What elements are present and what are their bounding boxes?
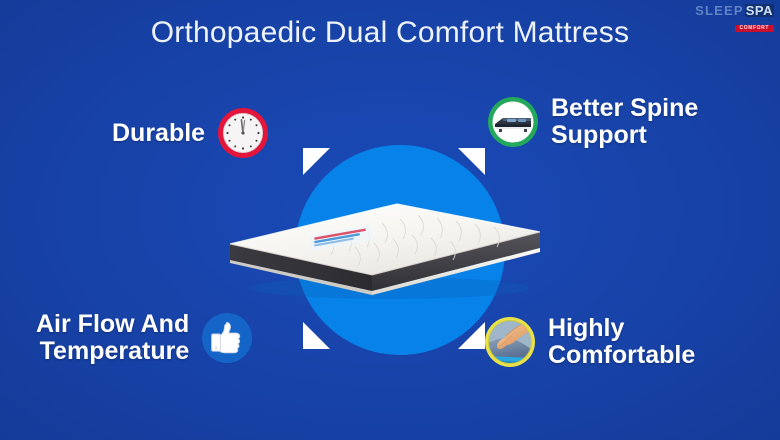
product-mattress-image (222, 196, 547, 301)
page-title: Orthopaedic Dual Comfort Mattress (0, 16, 780, 50)
thumbs-up-icon (201, 312, 253, 364)
logo-badge: COMFORT (735, 25, 774, 32)
brand-logo: SLEEPSPA COMFORT (696, 4, 774, 32)
slide-canvas: Orthopaedic Dual Comfort Mattress SLEEPS… (0, 0, 780, 440)
feature-air-flow-label: Air Flow And Temperature (36, 311, 189, 365)
hand-press-icon (484, 316, 536, 368)
feature-highly-comfortable-label: Highly Comfortable (548, 315, 695, 369)
feature-spine-support-label: Better Spine Support (551, 95, 698, 149)
feature-durable-label: Durable (112, 120, 205, 147)
clock-icon (217, 107, 269, 159)
mattress-icon (487, 96, 539, 148)
feature-durable[interactable]: Durable (112, 107, 269, 159)
logo-word-secondary: SPA (745, 4, 774, 17)
logo-word-primary: SLEEP (695, 4, 744, 17)
feature-air-flow[interactable]: Air Flow And Temperature (36, 311, 253, 365)
logo-wordmark: SLEEPSPA (696, 4, 774, 17)
feature-highly-comfortable[interactable]: Highly Comfortable (484, 315, 695, 369)
feature-spine-support[interactable]: Better Spine Support (487, 95, 698, 149)
